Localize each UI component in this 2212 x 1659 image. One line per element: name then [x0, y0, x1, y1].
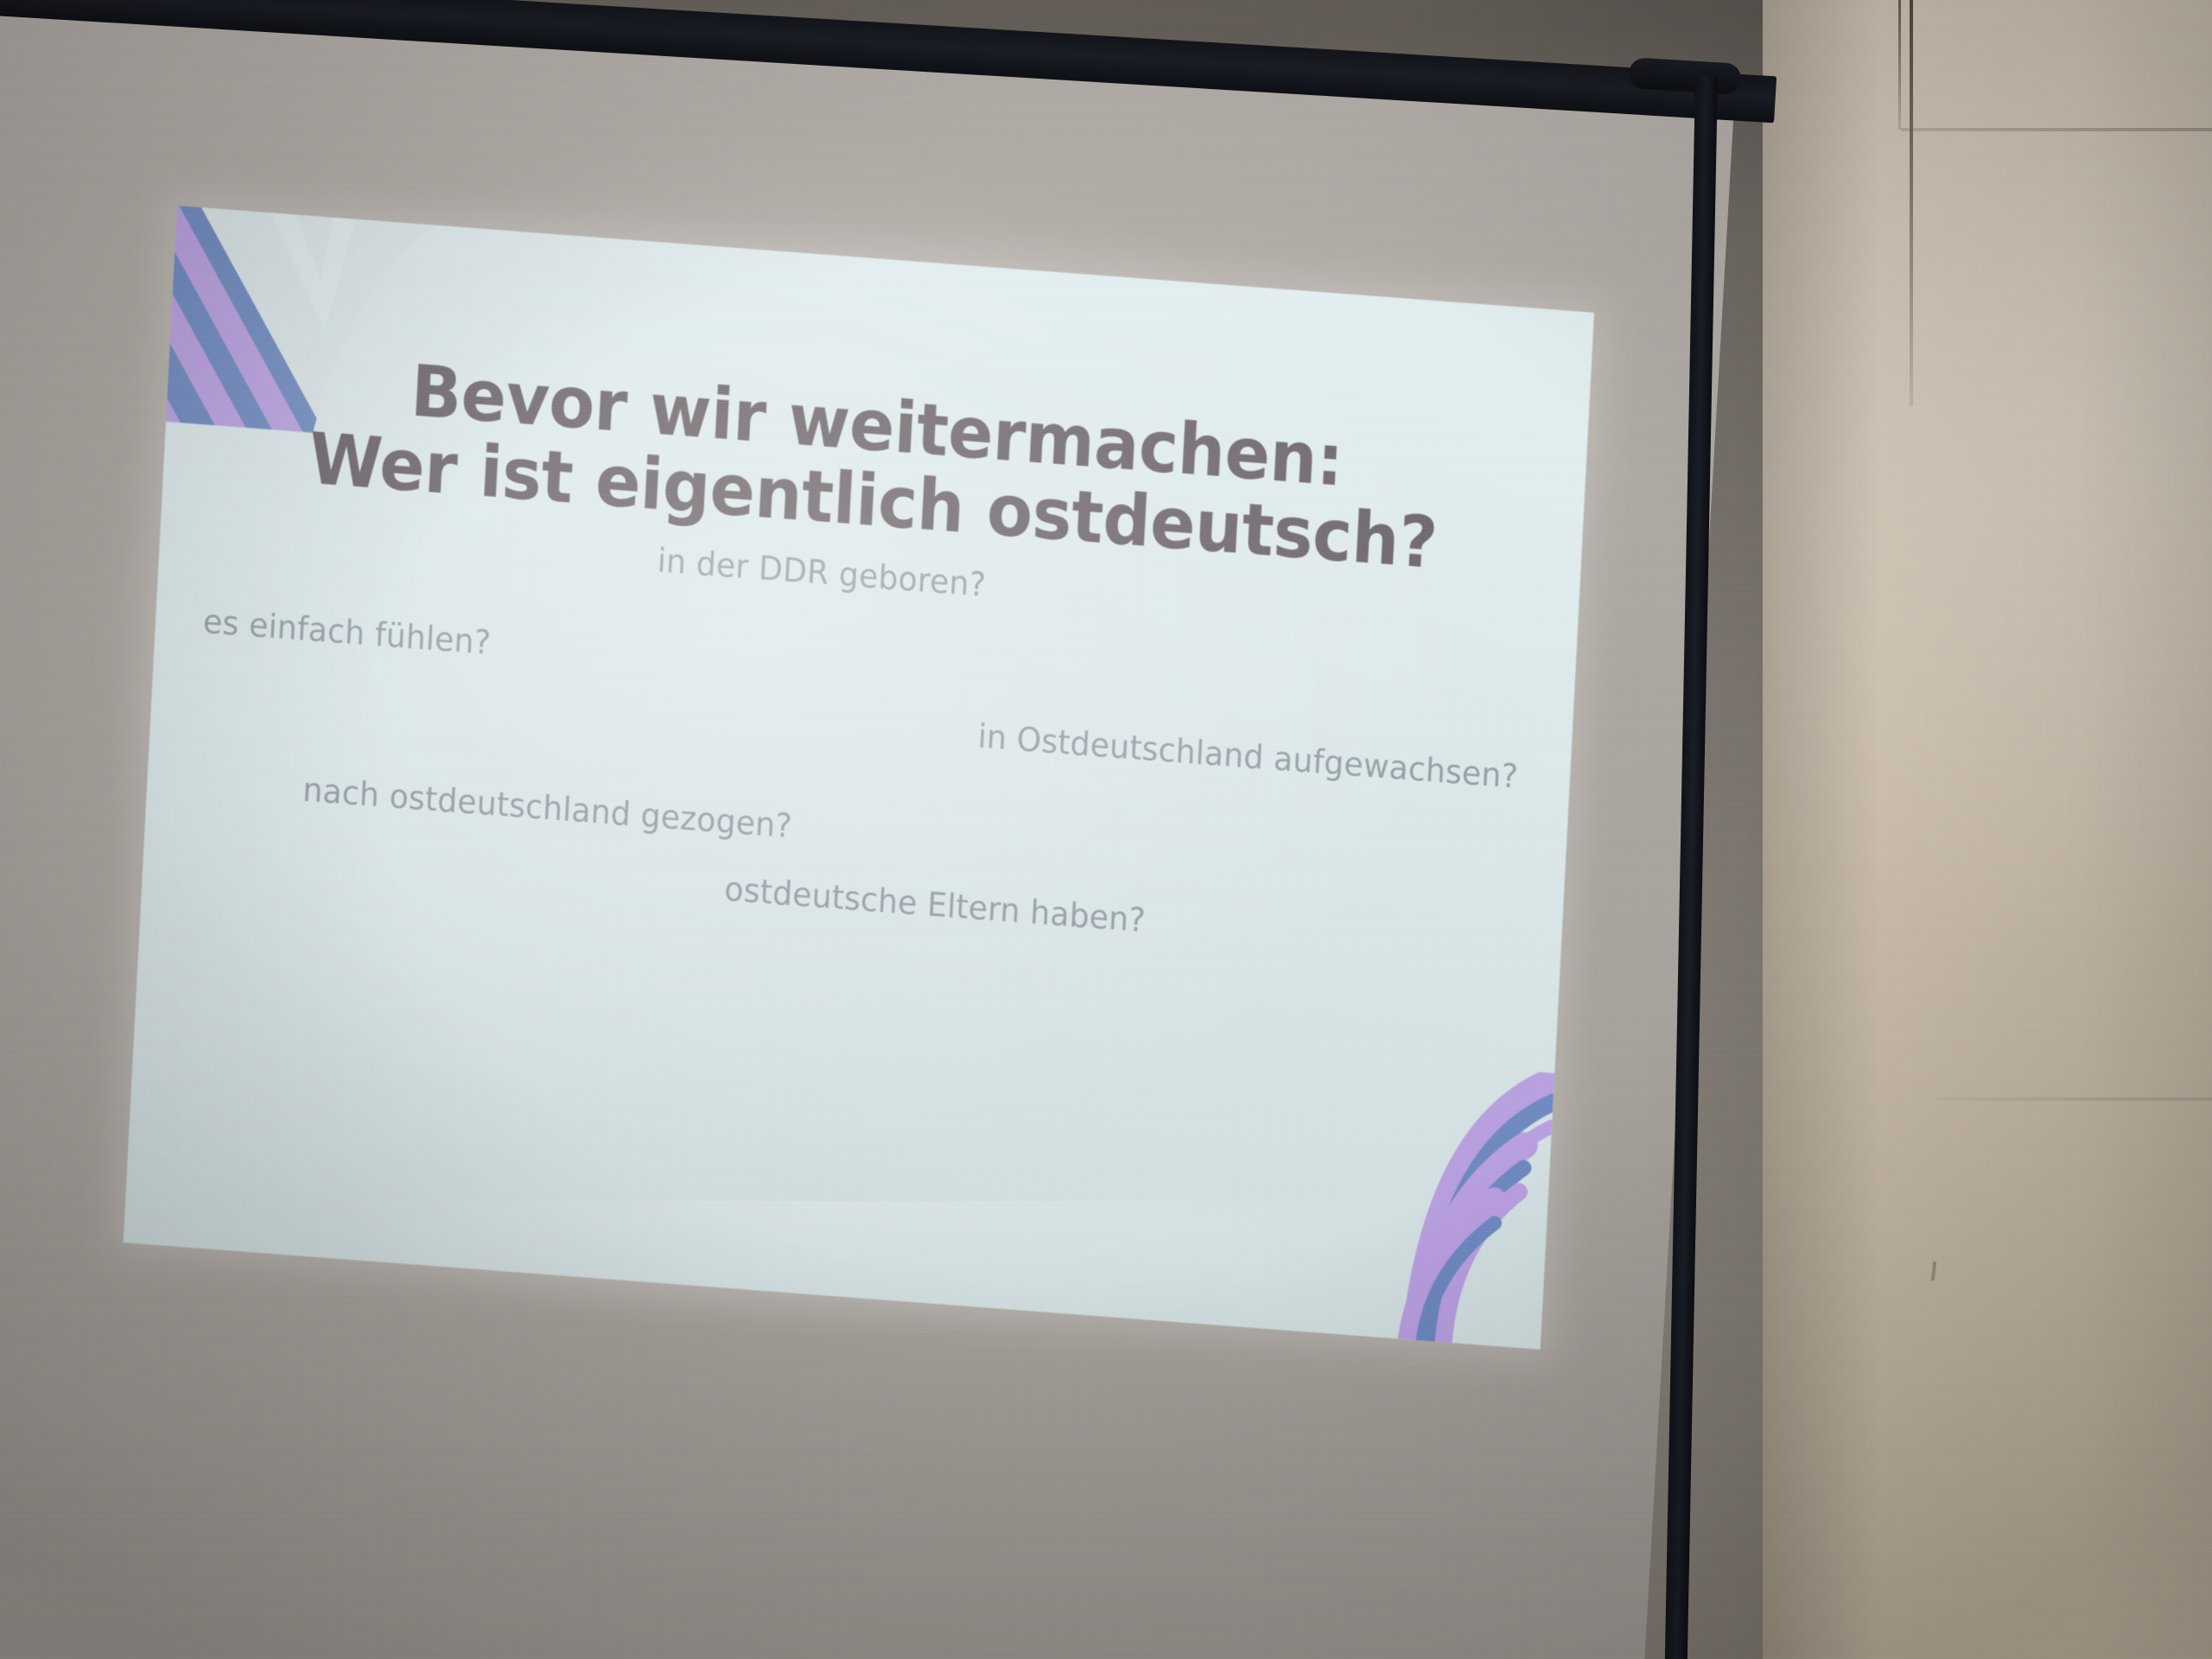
slide-question-born-in-ddr: in der DDR geboren?	[657, 541, 987, 604]
slide-question-east-german-parents: ostdeutsche Eltern haben?	[723, 870, 1146, 940]
corner-swoosh-bottom-right-icon	[1255, 1052, 1555, 1350]
photo-scene: Bevor wir weitermachen: Wer ist eigentli…	[0, 0, 2212, 1659]
slide-question-simply-feel-it: es einfach fühlen?	[202, 602, 492, 662]
projected-slide-area: Bevor wir weitermachen: Wer ist eigentli…	[124, 206, 1594, 1350]
presentation-slide: Bevor wir weitermachen: Wer ist eigentli…	[124, 206, 1594, 1350]
slide-question-grew-up-in-east: in Ostdeutschland aufgewachsen?	[977, 717, 1519, 796]
projector-screen-roller-end-cap	[1628, 57, 1742, 95]
slide-title: Bevor wir weitermachen: Wer ist eigentli…	[205, 340, 1545, 590]
slide-question-moved-to-east: nach ostdeutschland gezogen?	[302, 771, 792, 846]
